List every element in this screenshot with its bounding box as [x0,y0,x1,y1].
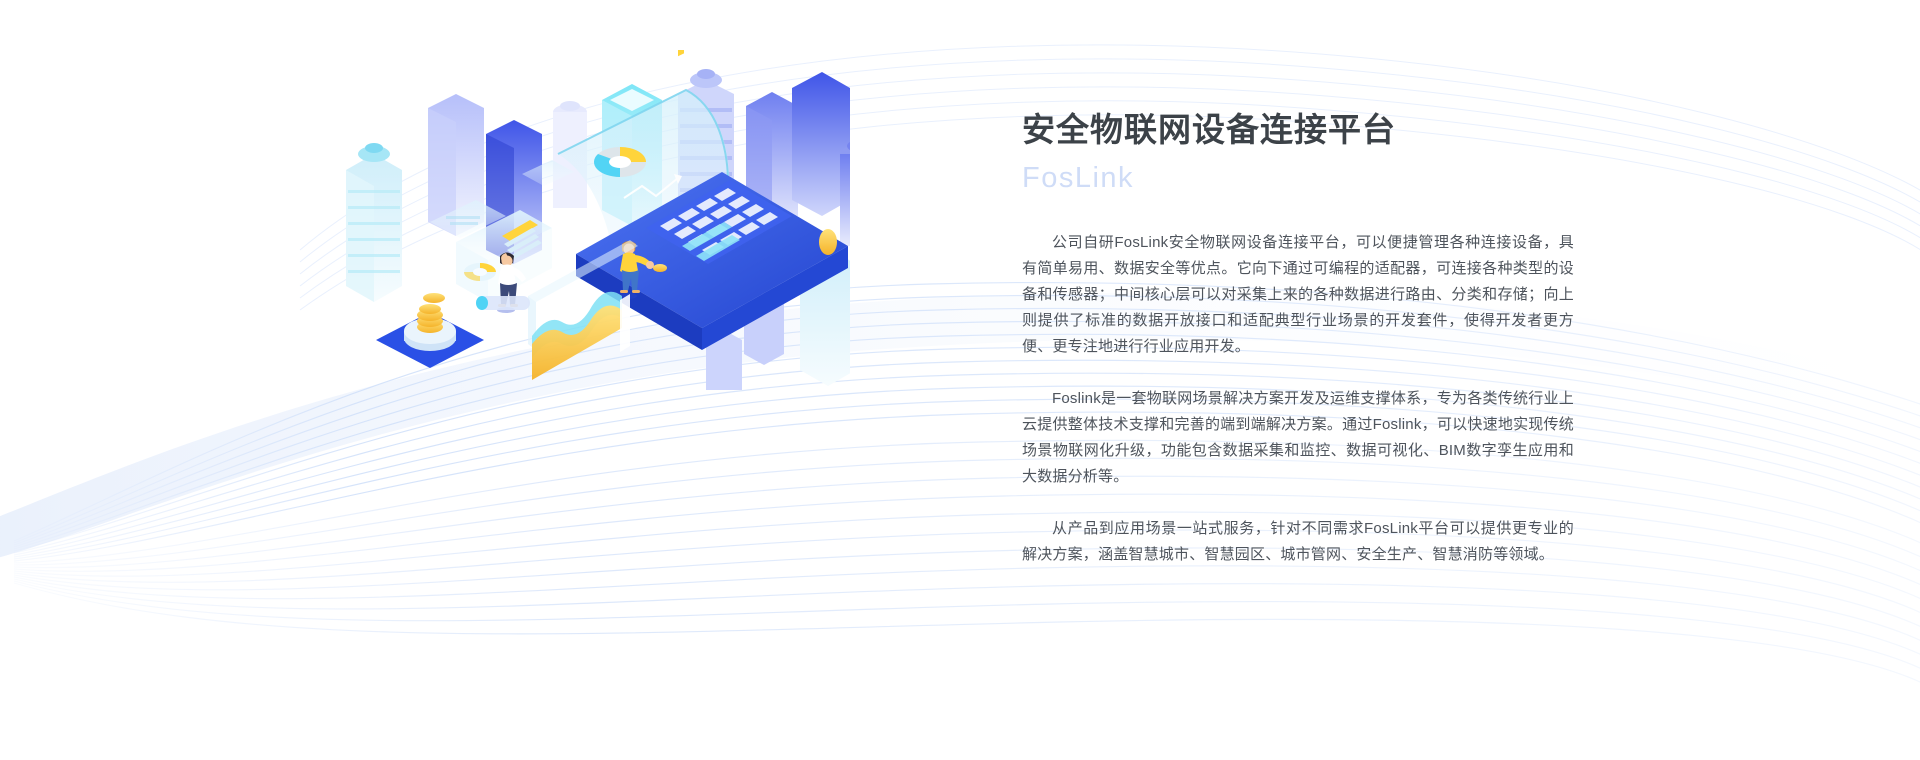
paragraph-3: 从产品到应用场景一站式服务，针对不同需求FosLink平台可以提供更专业的解决方… [1022,516,1574,568]
donut-chart-large [594,147,646,177]
building-tower-left [346,143,402,302]
building-round-violet-right [840,140,850,246]
page-subtitle: FosLink [1022,158,1574,198]
wave-family-upper [14,283,1920,561]
hero-text-block: 安全物联网设备连接平台 FosLink 公司自研FosLink安全物联网设备连接… [1022,108,1574,568]
page-title: 安全物联网设备连接平台 [1022,108,1574,152]
background-wave-lines [0,0,1920,760]
coin-pedestal [376,293,484,368]
wave-family-lower [14,440,1920,688]
wave-fan-glow [0,293,1920,560]
paragraph-2: Foslink是一套物联网场景解决方案开发及运维支撑体系，专为各类传统行业上云提… [1022,386,1574,490]
isometric-smart-city-illustration [330,50,850,390]
coin-stack [417,293,445,333]
hero-page: 安全物联网设备连接平台 FosLink 公司自研FosLink安全物联网设备连接… [0,0,1920,760]
description-paragraphs: 公司自研FosLink安全物联网设备连接平台，可以便捷管理各种连接设备，具有简单… [1022,230,1574,568]
paragraph-1: 公司自研FosLink安全物联网设备连接平台，可以便捷管理各种连接设备，具有简单… [1022,230,1574,360]
bar-chart-group [626,50,661,84]
coin-floating-right [819,229,837,255]
connector-cylinder [476,296,530,310]
donut-chart-small [464,263,496,281]
